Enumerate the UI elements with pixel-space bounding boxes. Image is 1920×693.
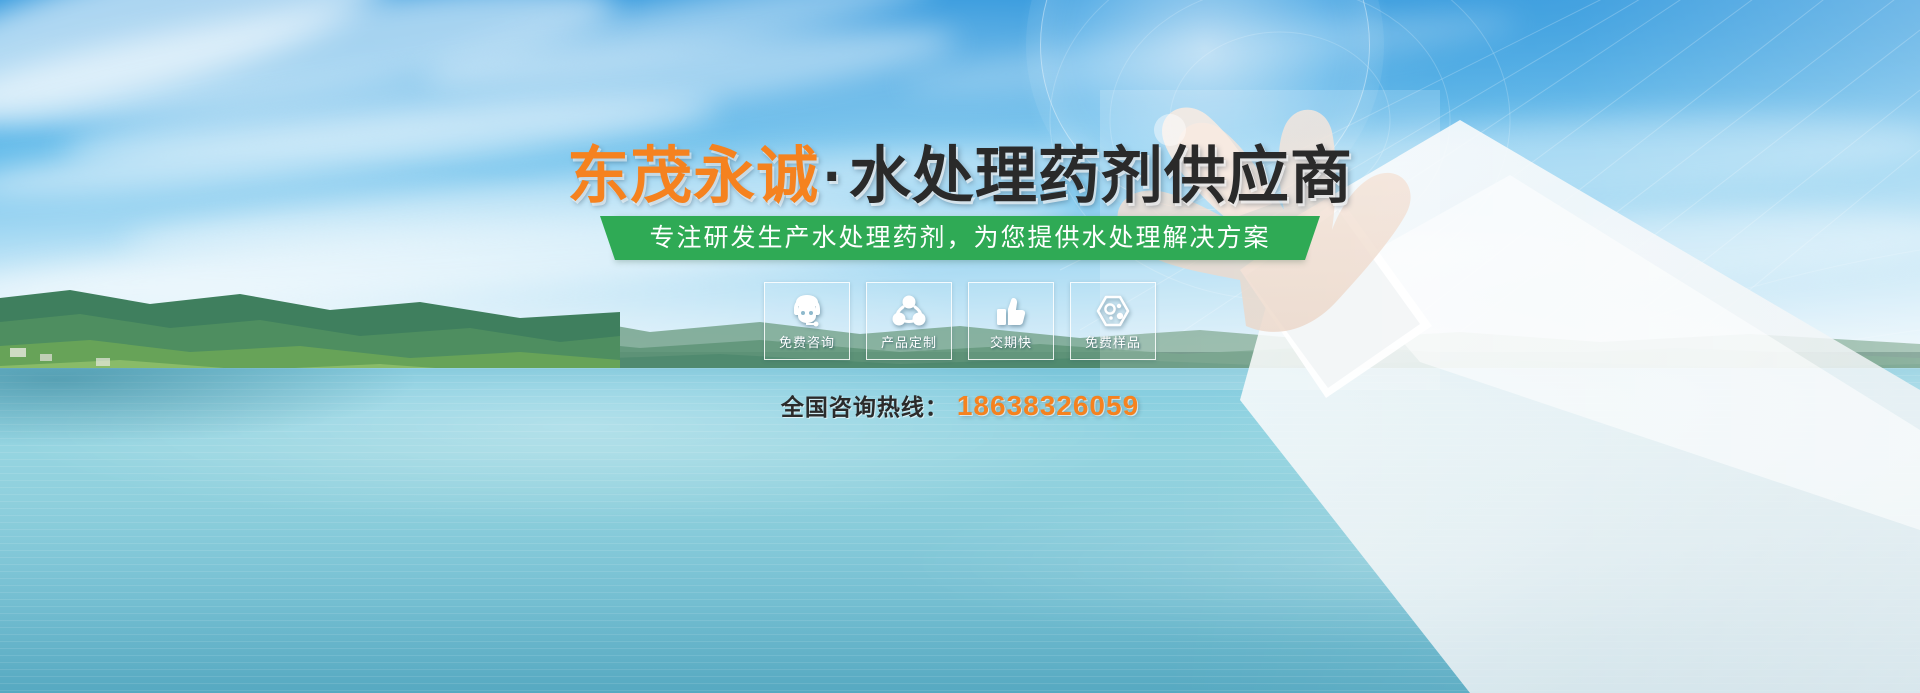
- headline-tagline: 水处理药剂供应商: [849, 142, 1353, 211]
- hexagon-sample-icon: [1092, 291, 1134, 331]
- thumbs-up-icon: [990, 291, 1032, 331]
- hotline-label: 全国咨询热线：: [781, 394, 949, 420]
- feature-item-fast-delivery[interactable]: 交期快: [968, 282, 1054, 360]
- molecule-custom-icon: [888, 291, 930, 331]
- headline-brand: 东茂永诚: [567, 142, 819, 211]
- headset-support-icon: [786, 291, 828, 331]
- banner-content: 东茂永诚·水处理药剂供应商 专注研发生产水处理药剂，为您提供水处理解决方案: [0, 0, 1920, 693]
- hero-banner: 东茂永诚·水处理药剂供应商 专注研发生产水处理药剂，为您提供水处理解决方案: [0, 0, 1920, 693]
- feature-item-free-consult[interactable]: 免费咨询: [764, 282, 850, 360]
- feature-item-product-custom[interactable]: 产品定制: [866, 282, 952, 360]
- hotline-number[interactable]: 18638326059: [957, 390, 1139, 421]
- feature-item-free-sample[interactable]: 免费样品: [1070, 282, 1156, 360]
- hotline: 全国咨询热线：18638326059: [0, 388, 1920, 422]
- subtitle-banner: 专注研发生产水处理药剂，为您提供水处理解决方案: [615, 216, 1304, 260]
- feature-list: 免费咨询 产品定制: [0, 282, 1920, 360]
- subtitle-banner-wrap: 专注研发生产水处理药剂，为您提供水处理解决方案: [0, 216, 1920, 260]
- feature-label: 免费样品: [1085, 335, 1141, 351]
- feature-label: 交期快: [990, 335, 1032, 351]
- feature-label: 免费咨询: [779, 335, 835, 351]
- headline-separator: ·: [823, 142, 845, 211]
- headline: 东茂永诚·水处理药剂供应商: [0, 142, 1920, 212]
- feature-label: 产品定制: [881, 335, 937, 351]
